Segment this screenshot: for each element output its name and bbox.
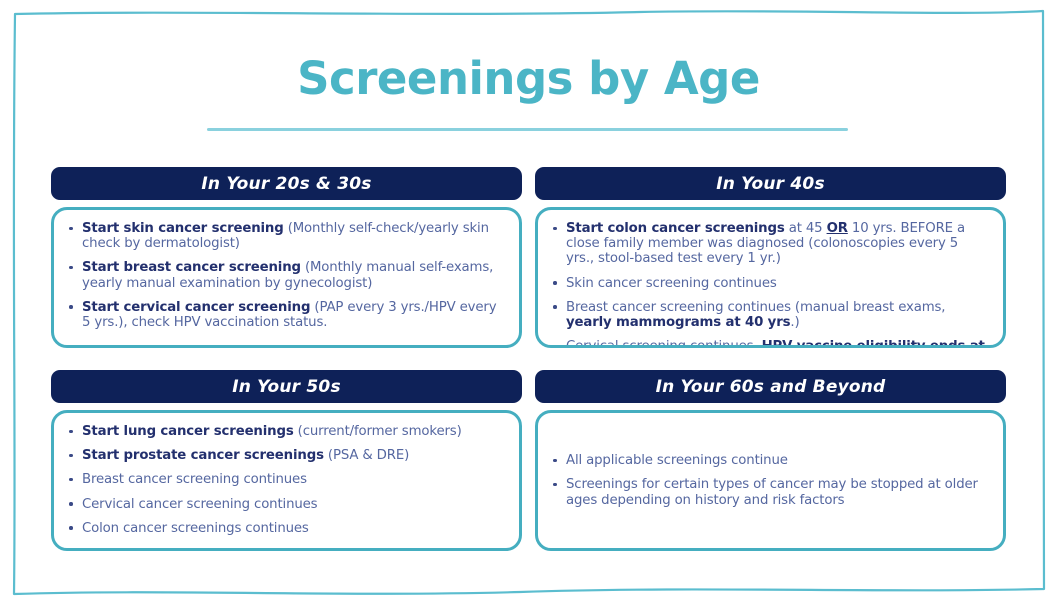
- panel-in-your-20s-30s: In Your 20s & 30s Start skin cancer scre…: [51, 167, 522, 348]
- bullet-bold-lead: Start prostate cancer screenings: [82, 448, 324, 463]
- panel-in-your-50s: In Your 50s Start lung cancer screenings…: [51, 370, 522, 551]
- bullet-bold-lead: Start cervical cancer screening: [82, 300, 310, 315]
- bullet-bold-lead: Start colon cancer screenings: [566, 221, 785, 236]
- bullet-bold-lead: Start breast cancer screening: [82, 260, 301, 275]
- poster-root: Screenings by Age In Your 20s & 30s Star…: [0, 0, 1057, 607]
- list-item: Breast cancer screening continues: [63, 472, 505, 487]
- bullet-dot-icon: [69, 227, 73, 231]
- bullet-list-40s: Start colon cancer screenings at 45 OR 1…: [547, 221, 989, 348]
- bullet-rest: (current/former smokers): [294, 424, 462, 439]
- panel-body-40s: Start colon cancer screenings at 45 OR 1…: [535, 207, 1006, 348]
- bullet-text: All applicable screenings continue: [566, 453, 788, 468]
- list-item: Start prostate cancer screenings (PSA & …: [63, 448, 505, 463]
- bullet-text: Screenings for certain types of cancer m…: [566, 477, 978, 507]
- bullet-text: Colon cancer screenings continues: [82, 521, 309, 536]
- list-item: Start cervical cancer screening (PAP eve…: [63, 300, 505, 330]
- panel-header-40s: In Your 40s: [535, 167, 1006, 200]
- bullet-tail-rest: .): [790, 315, 799, 330]
- page-title: Screenings by Age: [0, 56, 1057, 101]
- list-item: Cervical screening continues, HPV vaccin…: [547, 339, 989, 348]
- bullet-list-20s-30s: Start skin cancer screening (Monthly sel…: [63, 221, 505, 330]
- list-item: Start lung cancer screenings (current/fo…: [63, 424, 505, 439]
- bullet-text: Skin cancer screening continues: [566, 276, 777, 291]
- panel-body-20s-30s: Start skin cancer screening (Monthly sel…: [51, 207, 522, 348]
- bullet-dot-icon: [553, 345, 557, 348]
- bullet-dot-icon: [69, 266, 73, 270]
- bullet-bold-lead: Start lung cancer screenings: [82, 424, 294, 439]
- list-item: Start skin cancer screening (Monthly sel…: [63, 221, 505, 251]
- list-item: Skin cancer screening continues: [547, 276, 989, 291]
- bullet-rest: (PSA & DRE): [324, 448, 409, 463]
- bullet-list-60s: All applicable screenings continue Scree…: [547, 453, 989, 508]
- list-item: Breast cancer screening continues (manua…: [547, 300, 989, 330]
- bullet-dot-icon: [69, 502, 73, 506]
- bullet-dot-icon: [69, 454, 73, 458]
- panel-body-50s: Start lung cancer screenings (current/fo…: [51, 410, 522, 551]
- panels-grid: In Your 20s & 30s Start skin cancer scre…: [51, 167, 1006, 552]
- bullet-mid: at 45: [785, 221, 827, 236]
- title-underline-rule: [207, 128, 848, 131]
- bullet-dot-icon: [69, 478, 73, 482]
- bullet-text: Cervical cancer screening continues: [82, 497, 317, 512]
- bullet-text: Breast cancer screening continues: [82, 472, 307, 487]
- panel-body-60s: All applicable screenings continue Scree…: [535, 410, 1006, 551]
- panel-header-20s-30s: In Your 20s & 30s: [51, 167, 522, 200]
- list-item: Screenings for certain types of cancer m…: [547, 477, 989, 507]
- bullet-list-50s: Start lung cancer screenings (current/fo…: [63, 424, 505, 536]
- list-item: Cervical cancer screening continues: [63, 497, 505, 512]
- bullet-dot-icon: [69, 526, 73, 530]
- bullet-dot-icon: [553, 459, 557, 463]
- panel-header-60s: In Your 60s and Beyond: [535, 370, 1006, 403]
- bullet-dot-icon: [553, 227, 557, 231]
- panel-in-your-40s: In Your 40s Start colon cancer screening…: [535, 167, 1006, 348]
- list-item: All applicable screenings continue: [547, 453, 989, 468]
- bullet-lead: Breast cancer screening continues (manua…: [566, 300, 945, 315]
- list-item: Colon cancer screenings continues: [63, 521, 505, 536]
- bullet-bold-lead: Start skin cancer screening: [82, 221, 284, 236]
- bullet-dot-icon: [553, 281, 557, 285]
- bullet-dot-icon: [69, 430, 73, 434]
- bullet-lead: Cervical screening continues,: [566, 339, 762, 348]
- bullet-bold-underline: OR: [827, 221, 848, 236]
- panel-in-your-60s-and-beyond: In Your 60s and Beyond All applicable sc…: [535, 370, 1006, 551]
- bullet-dot-icon: [553, 305, 557, 309]
- bullet-bold-tail: yearly mammograms at 40 yrs: [566, 315, 790, 330]
- bullet-dot-icon: [69, 305, 73, 309]
- list-item: Start colon cancer screenings at 45 OR 1…: [547, 221, 989, 267]
- panel-header-50s: In Your 50s: [51, 370, 522, 403]
- bullet-dot-icon: [553, 483, 557, 487]
- list-item: Start breast cancer screening (Monthly m…: [63, 260, 505, 290]
